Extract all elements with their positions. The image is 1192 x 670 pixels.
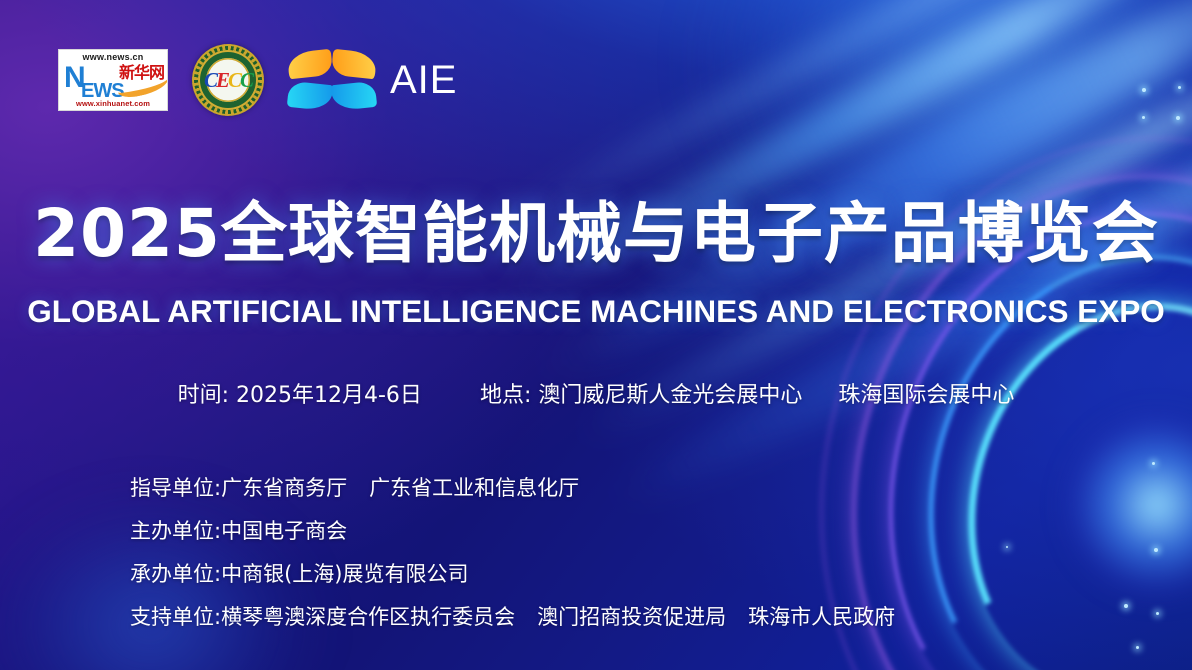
xinhua-news-logo[interactable]: www.news.cn N EWS 新华网 www.xinhuanet.com [58, 49, 168, 111]
cecc-seal-logo[interactable]: CECC [192, 44, 264, 116]
organizer-list: 指导单位:广东省商务厅广东省工业和信息化厅 主办单位:中国电子商会 承办单位:中… [130, 467, 895, 639]
place-value-1: 澳门威尼斯人金光会展中心 [538, 383, 802, 408]
xinhua-bottom-url: www.xinhuanet.com [59, 98, 167, 109]
organizer-label: 主办单位: [130, 519, 221, 543]
aie-logo[interactable]: AIE [288, 51, 457, 109]
page-title: 2025全球智能机械与电子产品博览会 [0, 196, 1192, 272]
organizer-value: 横琴粤澳深度合作区执行委员会 [221, 605, 515, 629]
wing-shape [287, 81, 333, 111]
time-value: 2025年12月4-6日 [236, 383, 422, 408]
organizer-value: 澳门招商投资促进局 [537, 605, 726, 629]
expo-poster: www.news.cn N EWS 新华网 www.xinhuanet.com … [0, 0, 1192, 670]
cecc-letters: CECC [192, 44, 264, 116]
organizer-value: 中国电子商会 [221, 519, 347, 543]
event-meta: 时间: 2025年12月4-6日 地点: 澳门威尼斯人金光会展中心 珠海国际会展… [0, 380, 1192, 412]
cecc-letter: E [216, 70, 228, 91]
butterfly-icon [288, 51, 376, 109]
organizer-row: 支持单位:横琴粤澳深度合作区执行委员会澳门招商投资促进局珠海市人民政府 [130, 596, 895, 639]
organizer-row: 主办单位:中国电子商会 [130, 510, 895, 553]
wing-shape [331, 49, 377, 79]
place-value-2: 珠海国际会展中心 [838, 383, 1014, 408]
wing-shape [287, 49, 333, 79]
place-label: 地点: [480, 383, 531, 408]
aie-wordmark: AIE [390, 60, 457, 100]
cecc-letter: C [204, 70, 216, 91]
organizer-value: 广东省工业和信息化厅 [369, 476, 579, 500]
wing-shape [331, 81, 377, 111]
organizer-label: 指导单位: [130, 476, 221, 500]
organizer-value: 中商银(上海)展览有限公司 [221, 562, 468, 586]
organizer-row: 指导单位:广东省商务厅广东省工业和信息化厅 [130, 467, 895, 510]
organizer-label: 承办单位: [130, 562, 221, 586]
page-subtitle: GLOBAL ARTIFICIAL INTELLIGENCE MACHINES … [0, 292, 1192, 330]
time-label: 时间: [178, 383, 229, 408]
organizer-value: 广东省商务厅 [221, 476, 347, 500]
cecc-letter: C [228, 70, 240, 91]
organizer-row: 承办单位:中商银(上海)展览有限公司 [130, 553, 895, 596]
organizer-value: 珠海市人民政府 [748, 605, 895, 629]
organizer-label: 支持单位: [130, 605, 221, 629]
xinhua-mark: N EWS 新华网 [59, 62, 167, 99]
logo-row: www.news.cn N EWS 新华网 www.xinhuanet.com … [58, 44, 457, 116]
cecc-letter: C [240, 70, 252, 91]
